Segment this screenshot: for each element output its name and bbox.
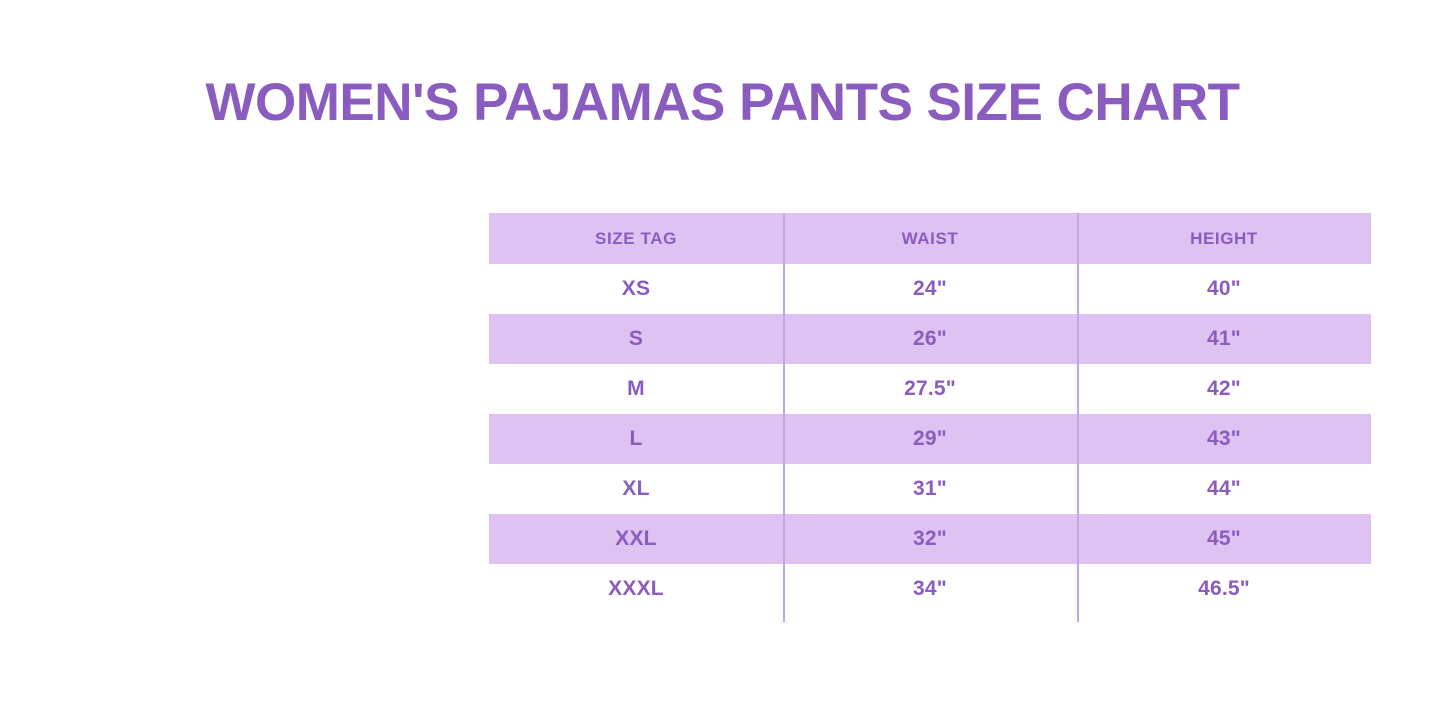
cell-size-tag: XL <box>489 464 783 514</box>
size-chart-table: SIZE TAG WAIST HEIGHT XS 24" 40" S 26" 4… <box>489 213 1371 614</box>
cell-size-tag: L <box>489 414 783 464</box>
table-row: L 29" 43" <box>489 414 1371 464</box>
cell-waist: 32" <box>783 514 1077 564</box>
cell-height: 46.5" <box>1077 564 1371 614</box>
table-header: SIZE TAG WAIST HEIGHT <box>489 213 1371 264</box>
cell-height: 40" <box>1077 264 1371 314</box>
cell-size-tag: XS <box>489 264 783 314</box>
column-divider-line <box>783 213 785 622</box>
table-body: XS 24" 40" S 26" 41" M 27.5" 42" L 29" <box>489 264 1371 614</box>
table-row: XS 24" 40" <box>489 264 1371 314</box>
cell-size-tag: S <box>489 314 783 364</box>
cell-height: 44" <box>1077 464 1371 514</box>
table-row: S 26" 41" <box>489 314 1371 364</box>
cell-waist: 27.5" <box>783 364 1077 414</box>
table-header-row: SIZE TAG WAIST HEIGHT <box>489 213 1371 264</box>
cell-size-tag: XXXL <box>489 564 783 614</box>
size-chart-page: WOMEN'S PAJAMAS PANTS SIZE CHART SIZE TA… <box>0 0 1445 723</box>
cell-waist: 29" <box>783 414 1077 464</box>
table-row: XXXL 34" 46.5" <box>489 564 1371 614</box>
size-chart-table-container: SIZE TAG WAIST HEIGHT XS 24" 40" S 26" 4… <box>489 213 1371 614</box>
cell-size-tag: M <box>489 364 783 414</box>
cell-height: 43" <box>1077 414 1371 464</box>
cell-height: 45" <box>1077 514 1371 564</box>
column-header-waist: WAIST <box>783 213 1077 264</box>
table-row: M 27.5" 42" <box>489 364 1371 414</box>
cell-height: 42" <box>1077 364 1371 414</box>
cell-height: 41" <box>1077 314 1371 364</box>
column-header-height: HEIGHT <box>1077 213 1371 264</box>
table-row: XL 31" 44" <box>489 464 1371 514</box>
column-header-size-tag: SIZE TAG <box>489 213 783 264</box>
cell-waist: 34" <box>783 564 1077 614</box>
cell-size-tag: XXL <box>489 514 783 564</box>
column-divider-line <box>1077 213 1079 622</box>
page-title: WOMEN'S PAJAMAS PANTS SIZE CHART <box>0 72 1445 134</box>
cell-waist: 26" <box>783 314 1077 364</box>
table-row: XXL 32" 45" <box>489 514 1371 564</box>
cell-waist: 24" <box>783 264 1077 314</box>
cell-waist: 31" <box>783 464 1077 514</box>
